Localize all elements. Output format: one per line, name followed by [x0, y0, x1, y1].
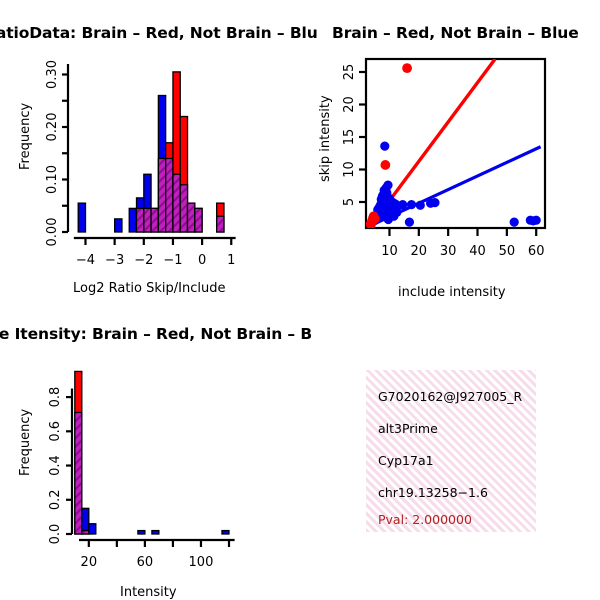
intensity-histogram-ylabel: Frequency: [18, 409, 33, 476]
histogram-bar-overlap: [188, 203, 195, 232]
y-tick-label: 10: [342, 161, 357, 178]
histogram-bar: [89, 524, 96, 534]
x-tick-label: −4: [76, 253, 95, 268]
histogram-bar: [115, 219, 122, 232]
x-tick-label: 60: [137, 555, 154, 570]
y-tick-label: 0.6: [48, 421, 63, 442]
x-tick-label: 1: [227, 253, 235, 268]
x-tick-label: 100: [189, 555, 214, 570]
histogram-bar: [222, 531, 229, 534]
scatter-point-not-brain: [430, 198, 439, 207]
x-tick-label: 50: [499, 244, 516, 259]
scatter-point-not-brain: [407, 200, 416, 209]
intensity-histogram-canvas: 0.00.20.40.60.82060100: [0, 300, 300, 600]
histogram-bar-overlap: [173, 174, 180, 232]
y-tick-label: 0.2: [48, 489, 63, 510]
scatter-content: [366, 59, 541, 229]
y-tick-label: 0.10: [45, 165, 60, 194]
info-gene-name: Cyp17a1: [378, 453, 434, 468]
histogram-bar: [129, 208, 136, 232]
y-tick-label: 0.0: [48, 524, 63, 545]
histogram-bar-overlap: [144, 208, 151, 232]
panel-scatter: Brain – Red, Not Brain – Blue 5101520251…: [300, 0, 600, 300]
ratio-bars: [78, 72, 224, 232]
y-tick-label: 0.4: [48, 455, 63, 476]
scatter-point-brain: [366, 219, 376, 229]
scatter-point-not-brain: [529, 216, 538, 225]
info-pval: Pval: 2.000000: [378, 512, 472, 527]
histogram-bar-overlap: [166, 159, 173, 233]
scatter-point-not-brain: [510, 218, 519, 227]
x-tick-label: 20: [81, 555, 98, 570]
y-tick-label: 0.20: [45, 113, 60, 142]
histogram-bar: [78, 203, 85, 232]
x-tick-label: −2: [134, 253, 153, 268]
y-tick-label: 0.30: [45, 60, 60, 89]
ratio-histogram-ylabel: Frequency: [18, 103, 33, 170]
scatter-point-brain: [380, 160, 390, 170]
scatter-point-brain: [402, 63, 412, 73]
x-tick-label: 20: [411, 244, 428, 259]
x-tick-label: 10: [381, 244, 398, 259]
y-tick-label: 0.8: [48, 387, 63, 408]
histogram-bar-overlap: [151, 208, 158, 232]
x-tick-label: 0: [198, 253, 206, 268]
intensity-bars: [75, 371, 229, 534]
y-tick-label: 0.00: [45, 218, 60, 247]
info-event-type: alt3Prime: [378, 421, 438, 436]
scatter-ylabel: skip intensity: [318, 95, 333, 182]
ratio-histogram-canvas: 0.000.100.200.30−4−3−2−101: [0, 0, 300, 300]
y-tick-label: 20: [342, 96, 357, 113]
scatter-point-not-brain: [384, 215, 393, 224]
histogram-bar: [152, 531, 159, 534]
y-tick-label: 15: [342, 129, 357, 146]
histogram-bar-overlap: [195, 208, 202, 232]
y-tick-label: 25: [342, 64, 357, 81]
scatter-point-not-brain: [416, 201, 425, 210]
histogram-bar-overlap: [82, 531, 89, 534]
y-tick-label: 5: [342, 198, 357, 206]
scatter-canvas: 510152025102030405060: [300, 0, 600, 300]
scatter-point-not-brain: [405, 218, 414, 227]
x-tick-label: −3: [105, 253, 124, 268]
scatter-point-not-brain: [398, 200, 407, 209]
x-tick-label: 30: [440, 244, 457, 259]
histogram-bar-overlap: [180, 185, 187, 232]
panel-intensity-histogram: ne Itensity: Brain – Red, Not Brain – B …: [0, 300, 300, 600]
histogram-bar-overlap: [158, 159, 165, 233]
histogram-bar-overlap: [217, 216, 224, 232]
intensity-histogram-xlabel: Intensity: [120, 585, 177, 600]
x-tick-label: 60: [528, 244, 545, 259]
histogram-bar: [138, 531, 145, 534]
scatter-point-not-brain: [380, 142, 389, 151]
x-tick-label: −1: [163, 253, 182, 268]
scatter-xlabel: include intensity: [398, 285, 506, 300]
x-tick-label: 40: [469, 244, 486, 259]
ratio-histogram-xlabel: Log2 Ratio Skip/Include: [73, 281, 225, 296]
panel-info: G7020162@J927005_R alt3Prime Cyp17a1 ch…: [300, 300, 600, 600]
panel-ratio-histogram: RatioData: Brain – Red, Not Brain – Blu …: [0, 0, 300, 300]
info-probe-id: G7020162@J927005_R: [378, 389, 522, 404]
histogram-bar-overlap: [75, 412, 82, 534]
histogram-bar-overlap: [137, 208, 144, 232]
info-locus: chr19.13258−1.6: [378, 485, 488, 500]
